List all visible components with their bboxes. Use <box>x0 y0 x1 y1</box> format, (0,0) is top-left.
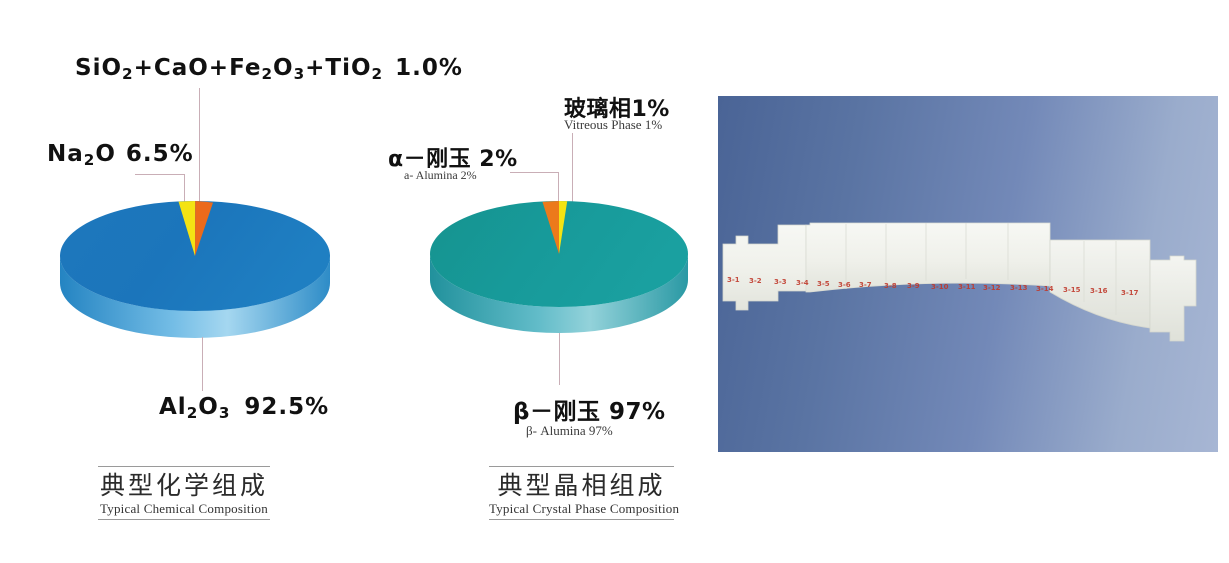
svg-text:3-1: 3-1 <box>727 276 740 284</box>
svg-text:3-15: 3-15 <box>1063 286 1081 294</box>
caption-chemical-cn: 典型化学组成 <box>98 471 270 500</box>
callout-oxides-mid2: O <box>273 55 294 81</box>
callout-al2o3-sub2: 3 <box>219 404 231 422</box>
callout-al2o3-value: 92.5% <box>230 394 329 420</box>
svg-text:3-11: 3-11 <box>958 283 976 291</box>
callout-na2o-sub1: 2 <box>84 151 96 169</box>
caption-crystal-cn: 典型晶相组成 <box>489 471 674 500</box>
callout-beta-alumina-en: β- Alumina 97% <box>526 423 613 438</box>
callout-al2o3-prefix: Al <box>159 394 187 420</box>
svg-text:3-9: 3-9 <box>907 282 920 290</box>
svg-text:3-17: 3-17 <box>1121 289 1139 297</box>
callout-al2o3-mid1: O <box>198 394 219 420</box>
callout-na2o-mid1: O <box>95 141 116 167</box>
svg-text:3-16: 3-16 <box>1090 287 1108 295</box>
callout-al2o3-sub1: 2 <box>187 404 199 422</box>
leader-line-al2o3 <box>202 337 203 391</box>
caption-chemical-en: Typical Chemical Composition <box>98 501 270 517</box>
caption-crystal-en: Typical Crystal Phase Composition <box>489 501 674 517</box>
chart-typical-chemical-composition: SiO2+CaO+Fe2O3+TiO21.0% Na2O6.5% <box>0 0 400 563</box>
svg-text:3-6: 3-6 <box>838 281 851 289</box>
caption-crystal-phase-composition: 典型晶相组成 Typical Crystal Phase Composition <box>489 466 674 520</box>
callout-beta-alumina-label-en: β- Alumina 97% <box>526 423 613 439</box>
callout-oxides-prefix: SiO <box>75 55 122 81</box>
callout-na2o-prefix: Na <box>47 141 84 167</box>
callout-oxides-sub3: 3 <box>294 65 306 83</box>
leader-line-beta <box>559 333 560 385</box>
svg-text:3-5: 3-5 <box>817 280 830 288</box>
refractory-brick-arch-photo: 3-1 3-2 3-3 3-4 3-5 3-6 3-7 3-8 3-9 3-10… <box>718 96 1218 452</box>
svg-text:3-12: 3-12 <box>983 284 1001 292</box>
callout-oxides-sub1: 2 <box>122 65 134 83</box>
pie-chart-crystal-phase <box>425 188 715 338</box>
callout-na2o-value: 6.5% <box>116 141 194 167</box>
svg-text:3-4: 3-4 <box>796 279 809 287</box>
callout-beta-alumina-label: β－刚玉 97% <box>513 392 666 426</box>
callout-alpha-alumina-label-en: a- Alumina 2% <box>404 168 477 183</box>
callout-al2o3-label: Al2O392.5% <box>159 394 329 420</box>
leader-line-na2o-horizontal <box>135 174 184 175</box>
svg-text:3-7: 3-7 <box>859 281 872 289</box>
callout-alpha-alumina-en: a- Alumina 2% <box>404 168 477 182</box>
callout-vitreous-en: Vitreous Phase 1% <box>564 117 662 132</box>
callout-na2o-label: Na2O6.5% <box>47 141 194 167</box>
callout-oxides-mid1: +CaO+Fe <box>134 55 262 81</box>
photo-content: 3-1 3-2 3-3 3-4 3-5 3-6 3-7 3-8 3-9 3-10… <box>718 96 1218 452</box>
slide-canvas: SiO2+CaO+Fe2O3+TiO21.0% Na2O6.5% <box>0 0 1229 563</box>
brick-row <box>723 223 1196 341</box>
svg-text:3-14: 3-14 <box>1036 285 1054 293</box>
svg-text:3-13: 3-13 <box>1010 284 1028 292</box>
svg-text:3-10: 3-10 <box>931 283 949 291</box>
svg-text:3-3: 3-3 <box>774 278 787 286</box>
leader-line-alpha-horizontal <box>510 172 558 173</box>
callout-oxides-mid3: +TiO <box>305 55 371 81</box>
leader-line-oxides <box>199 88 200 203</box>
callout-beta-alumina-cn: β－刚玉 97% <box>513 399 666 425</box>
callout-vitreous-label-en: Vitreous Phase 1% <box>564 117 662 133</box>
callout-oxides-sub2: 2 <box>261 65 273 83</box>
chart-typical-crystal-phase-composition: 玻璃相1% Vitreous Phase 1% α－刚玉 2% a- Alumi… <box>380 0 710 563</box>
caption-chemical-composition: 典型化学组成 Typical Chemical Composition <box>98 466 270 520</box>
svg-text:3-8: 3-8 <box>884 282 897 290</box>
svg-text:3-2: 3-2 <box>749 277 762 285</box>
pie-chart-chemical <box>55 188 355 338</box>
